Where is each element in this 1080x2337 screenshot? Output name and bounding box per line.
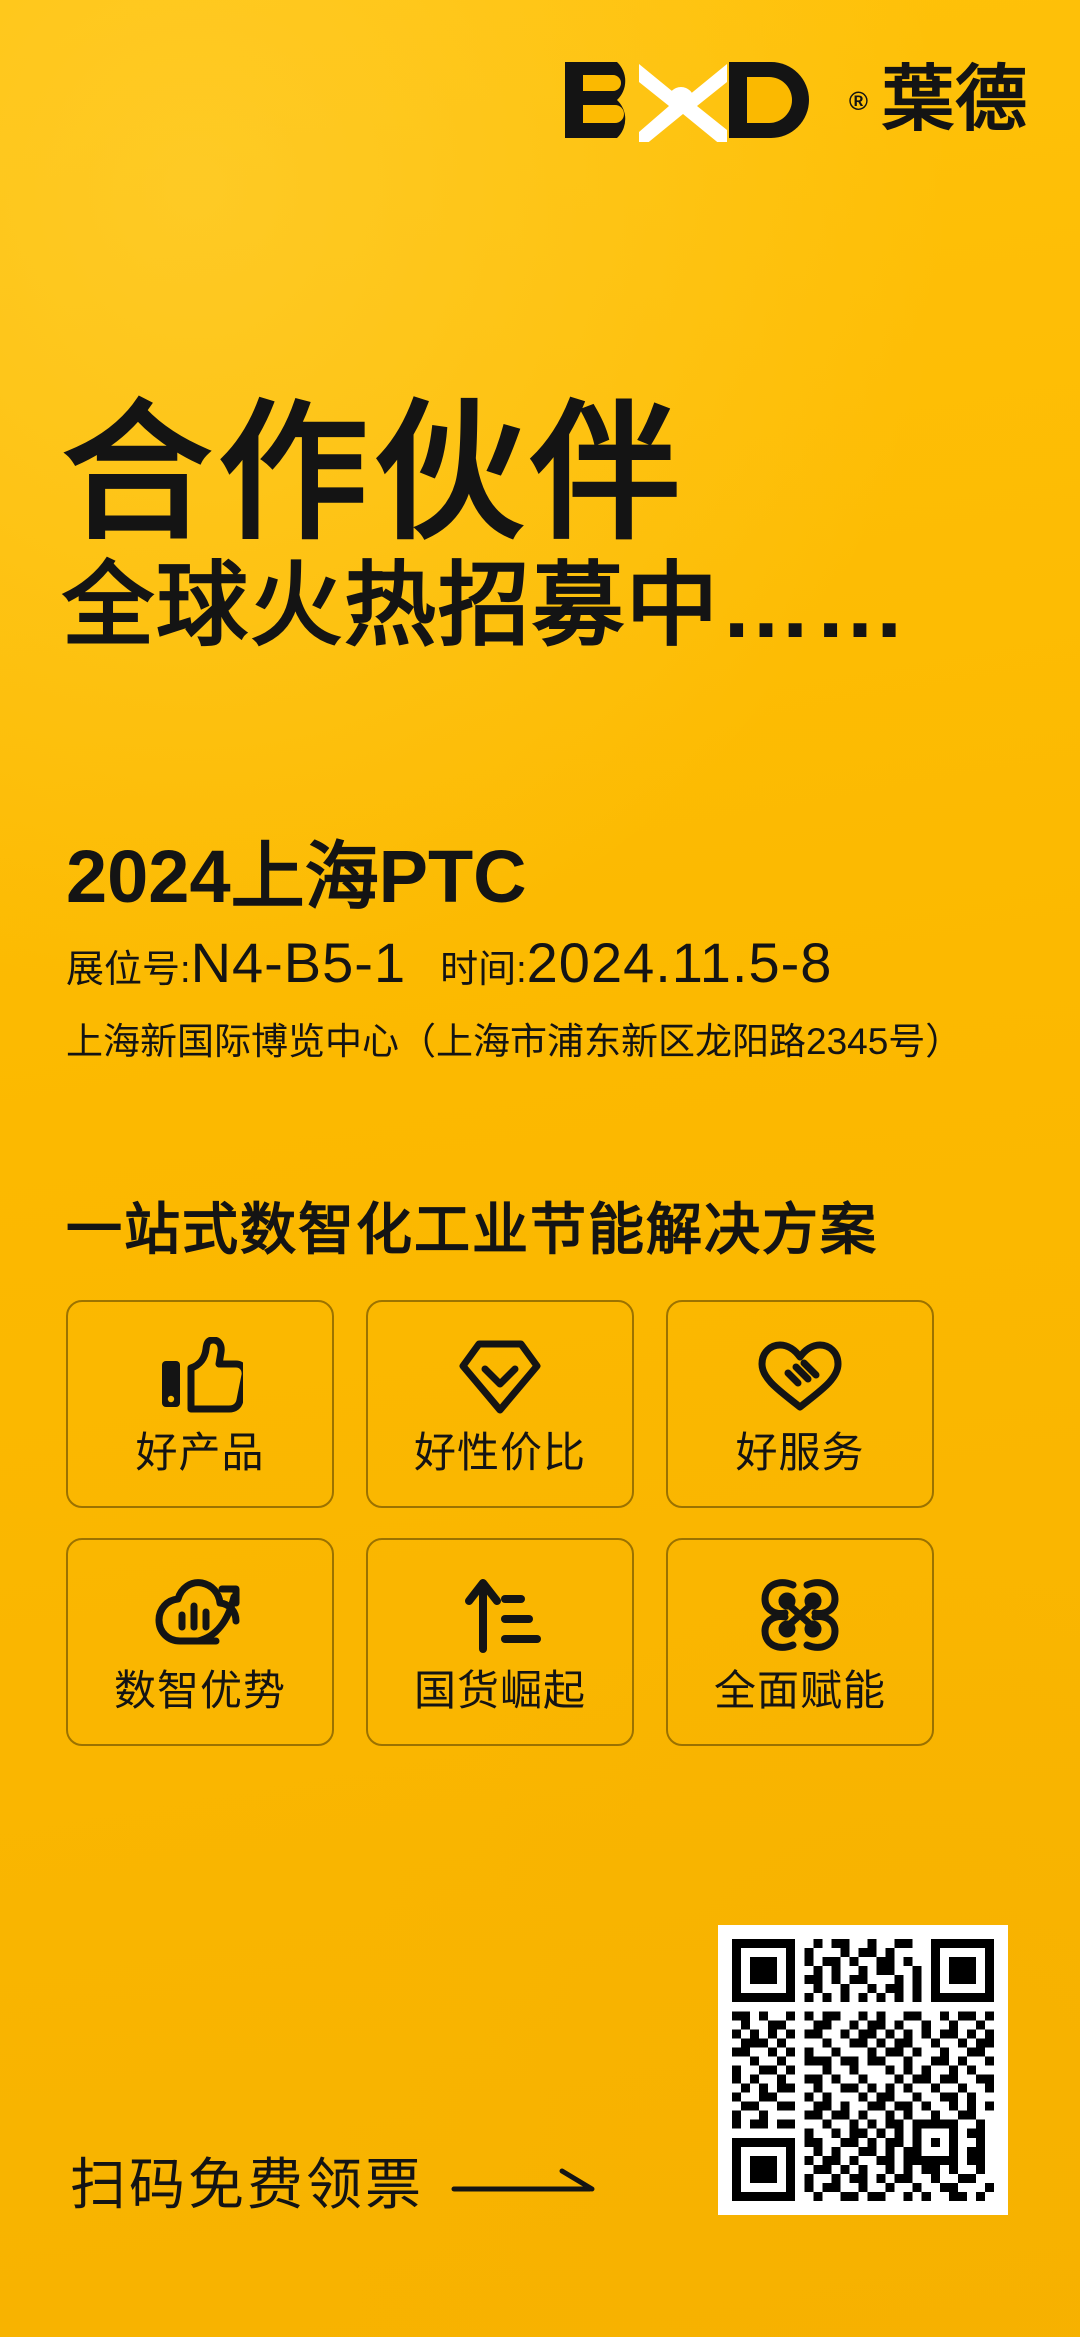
diamond-icon [457, 1334, 543, 1420]
qr-code[interactable] [718, 1925, 1008, 2215]
event-title: 2024上海PTC [66, 840, 1026, 914]
growth-arrow-bars-icon [457, 1572, 543, 1658]
cloud-chart-arrow-icon [154, 1572, 246, 1658]
handshake-heart-icon [754, 1334, 846, 1420]
feature-card-label: 数智优势 [114, 1670, 286, 1712]
feature-card-good-value[interactable]: 好性价比 [366, 1300, 634, 1508]
booth-label: 展位号: [66, 938, 191, 993]
connected-nodes-icon [757, 1572, 843, 1658]
solution-tagline: 一站式数智化工业节能解决方案 [66, 1185, 878, 1266]
feature-card-digital-advantage[interactable]: 数智优势 [66, 1538, 334, 1746]
event-info-block: 2024上海PTC 展位号: N4-B5-1 时间: 2024.11.5-8 上… [66, 840, 1026, 1065]
feature-card-good-product[interactable]: 好产品 [66, 1300, 334, 1508]
venue-address: 上海新国际博览中心（上海市浦东新区龙阳路2345号） [66, 1011, 1026, 1065]
poster-root: ® 葉德 合作伙伴 全球火热招募中…… 2024上海PTC 展位号: N4-B5… [0, 0, 1080, 2337]
booth-value: N4-B5-1 [191, 930, 407, 995]
thumbs-up-icon [157, 1334, 243, 1420]
headline-secondary: 全球火热招募中…… [62, 558, 1042, 655]
feature-card-label: 国货崛起 [414, 1670, 586, 1712]
cta-label: 扫码免费领票 [70, 2157, 424, 2213]
bd-infinity-logo-icon [561, 58, 833, 142]
feature-card-grid: 好产品 好性价比 好服务 [66, 1300, 934, 1746]
long-arrow-right-icon [450, 2163, 600, 2208]
feature-card-full-empowerment[interactable]: 全面赋能 [666, 1538, 934, 1746]
feature-card-label: 好性价比 [414, 1432, 586, 1474]
feature-card-domestic-rise[interactable]: 国货崛起 [366, 1538, 634, 1746]
date-label: 时间: [440, 938, 527, 993]
brand-name-cn: 葉德 [882, 67, 1028, 133]
feature-card-good-service[interactable]: 好服务 [666, 1300, 934, 1508]
registered-trademark-icon: ® [849, 88, 868, 114]
feature-card-label: 好产品 [135, 1432, 264, 1474]
feature-card-label: 全面赋能 [714, 1670, 886, 1712]
brand-logo: ® 葉德 [561, 58, 1028, 142]
event-booth-and-date: 展位号: N4-B5-1 时间: 2024.11.5-8 [66, 930, 1026, 995]
headline-primary: 合作伙伴 [62, 398, 1042, 548]
headline-block: 合作伙伴 全球火热招募中…… [62, 398, 1042, 655]
scan-cta[interactable]: 扫码免费领票 [70, 2157, 600, 2213]
feature-card-label: 好服务 [735, 1432, 864, 1474]
date-value: 2024.11.5-8 [527, 930, 833, 995]
